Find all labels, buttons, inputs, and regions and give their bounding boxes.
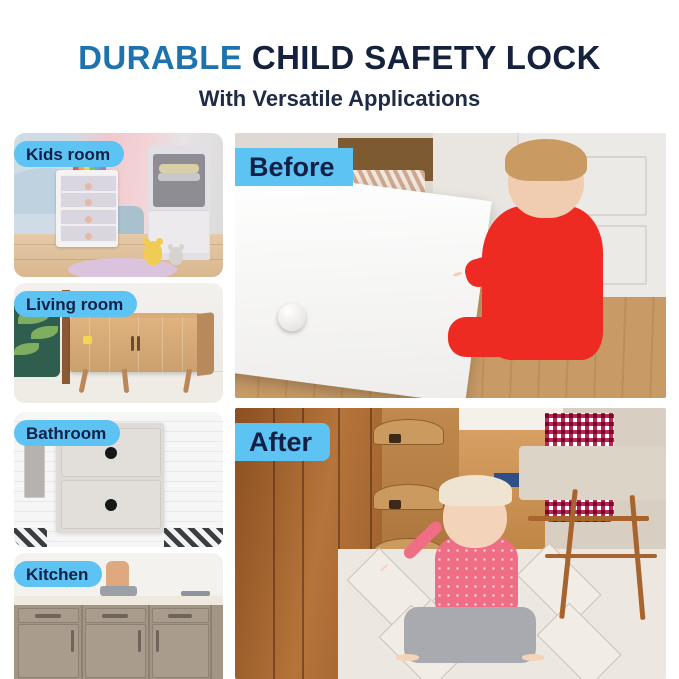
unlocked-drawer <box>235 167 491 398</box>
comparison-label-text: After <box>249 429 312 456</box>
comparison-panel-before: Before <box>235 133 666 398</box>
panel-label-text: Living room <box>26 296 123 313</box>
product-infographic: DURABLE CHILD SAFETY LOCK With Versatile… <box>0 0 679 679</box>
baby-red-onesie <box>459 144 623 393</box>
panel-label-text: Kids room <box>26 146 110 163</box>
comparison-label-badge-before: Before <box>235 148 353 186</box>
comparison-label-badge-after: After <box>235 423 330 461</box>
title-rest: CHILD SAFETY LOCK <box>252 39 601 76</box>
panel-label-badge: Living room <box>14 291 137 317</box>
page-subtitle: With Versatile Applications <box>0 88 679 110</box>
drawer-knob <box>276 301 307 332</box>
panel-label-badge: Kids room <box>14 141 124 167</box>
baby-pink-top <box>425 478 528 662</box>
panel-label-badge: Bathroom <box>14 420 120 446</box>
application-panel-living-room: Living room <box>14 283 223 403</box>
panel-label-text: Bathroom <box>26 425 106 442</box>
title-highlight: DURABLE <box>78 39 242 76</box>
comparison-label-text: Before <box>249 154 335 181</box>
application-panel-bathroom: Bathroom <box>14 412 223 547</box>
comparison-panel-after: After <box>235 408 666 679</box>
panel-label-text: Kitchen <box>26 566 88 583</box>
application-panel-kitchen: Kitchen <box>14 553 223 679</box>
page-title: DURABLE CHILD SAFETY LOCK <box>0 41 679 74</box>
application-panel-kids-room: Kids room <box>14 133 223 277</box>
panel-label-badge: Kitchen <box>14 561 102 587</box>
header: DURABLE CHILD SAFETY LOCK With Versatile… <box>0 0 679 128</box>
